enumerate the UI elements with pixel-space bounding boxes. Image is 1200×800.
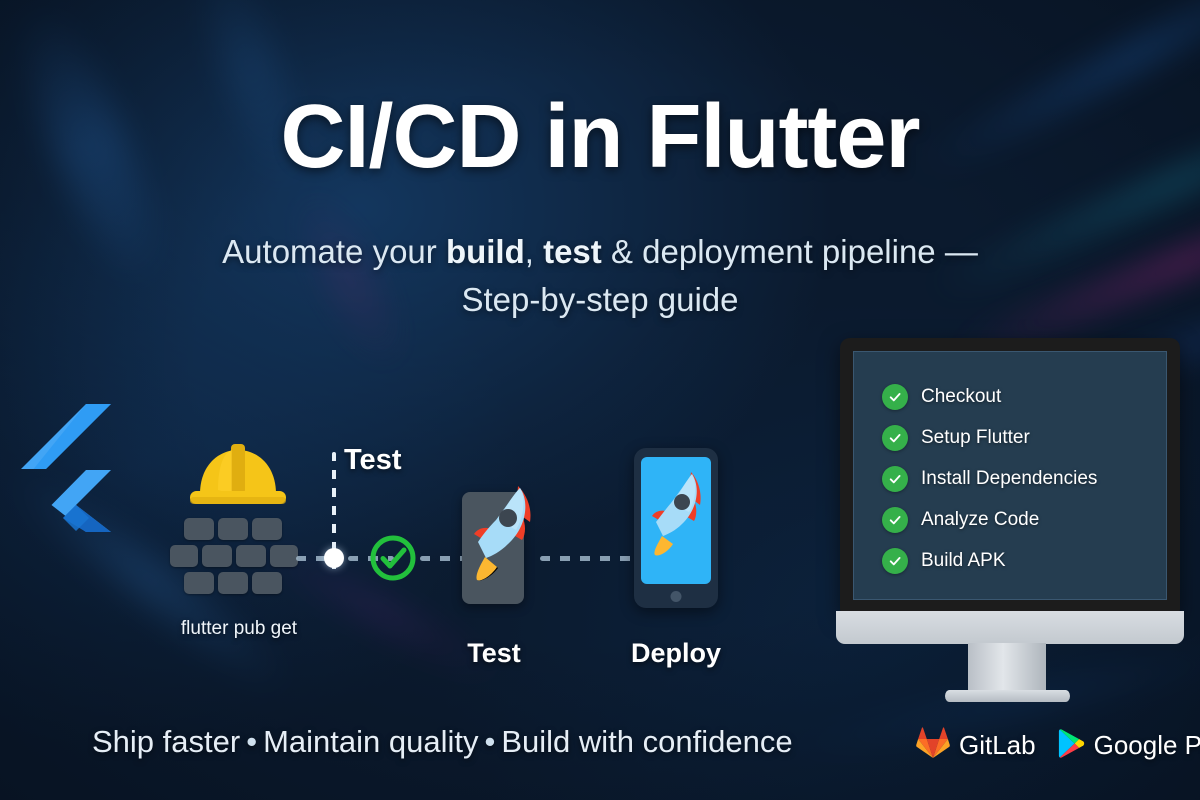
page-subtitle: Automate your build, test & deployment p… — [0, 228, 1200, 324]
monitor-bezel: Checkout Setup Flutter — [840, 338, 1180, 613]
brand-google-play: Google Play C — [1058, 728, 1200, 764]
subtitle-segment-2: , — [525, 233, 543, 270]
infographic-canvas: CI/CD in Flutter Automate your build, te… — [0, 0, 1200, 800]
pipeline-connector — [540, 556, 640, 561]
subtitle-segment-1: Automate your — [222, 233, 446, 270]
build-caption: flutter pub get — [164, 618, 314, 640]
checklist-item-label: Setup Flutter — [921, 427, 1030, 449]
flutter-logo — [8, 398, 118, 538]
monitor-stand-base — [945, 690, 1070, 702]
checklist-item[interactable]: Checkout — [882, 384, 1097, 410]
subtitle-emphasis-build: build — [446, 233, 525, 270]
rocket-icon — [644, 466, 712, 560]
tagline-part-3: Build with confidence — [501, 724, 792, 759]
monitor: Checkout Setup Flutter — [840, 338, 1200, 698]
pipeline-stage-deploy — [634, 448, 718, 608]
checklist-item[interactable]: Setup Flutter — [882, 425, 1097, 451]
checklist-item[interactable]: Analyze Code — [882, 507, 1097, 533]
monitor-screen: Checkout Setup Flutter — [853, 351, 1167, 600]
check-icon — [882, 548, 908, 574]
branch-label-test: Test — [344, 444, 401, 477]
check-icon — [882, 425, 908, 451]
footer-tagline: Ship faster•Maintain quality•Build with … — [92, 724, 793, 760]
phone-home-button — [671, 591, 682, 602]
brand-label-gitlab: GitLab — [959, 730, 1036, 761]
checklist-item-label: Install Dependencies — [921, 468, 1097, 490]
tagline-part-2: Maintain quality — [263, 724, 478, 759]
tagline-separator: • — [240, 724, 263, 759]
check-icon — [882, 507, 908, 533]
check-icon — [882, 466, 908, 492]
checklist-item[interactable]: Install Dependencies — [882, 466, 1097, 492]
checklist-item[interactable]: Build APK — [882, 548, 1097, 574]
check-circle-icon — [368, 533, 418, 583]
tagline-part-1: Ship faster — [92, 724, 240, 759]
monitor-chin — [836, 611, 1184, 644]
tagline-separator: • — [478, 724, 501, 759]
pipeline-label-test: Test — [430, 638, 558, 669]
page-title: CI/CD in Flutter — [0, 86, 1200, 189]
check-icon — [882, 384, 908, 410]
google-play-icon — [1058, 728, 1085, 764]
pipeline-stage-test — [462, 492, 524, 604]
monitor-stand-neck — [968, 643, 1046, 695]
brand-gitlab: GitLab — [916, 727, 1036, 764]
subtitle-emphasis-test: test — [543, 233, 602, 270]
checklist-item-label: Analyze Code — [921, 509, 1039, 531]
pipeline-stage-build: flutter pub get — [170, 440, 305, 640]
subtitle-segment-3: & deployment pipeline — — [602, 233, 978, 270]
pipeline-branch-node — [324, 548, 344, 568]
hard-hat-icon — [184, 440, 292, 510]
pipeline-label-deploy: Deploy — [612, 638, 740, 669]
brand-label-google-play: Google Play C — [1094, 730, 1200, 761]
checklist-item-label: Build APK — [921, 550, 1006, 572]
brick-wall-icon — [170, 518, 302, 598]
rocket-icon — [464, 476, 544, 586]
subtitle-line-2: Step-by-step guide — [461, 281, 738, 318]
checklist-item-label: Checkout — [921, 386, 1001, 408]
footer-brands: GitLab Google Play C — [916, 727, 1200, 764]
gitlab-icon — [916, 727, 950, 764]
pipeline-checklist: Checkout Setup Flutter — [882, 384, 1097, 574]
